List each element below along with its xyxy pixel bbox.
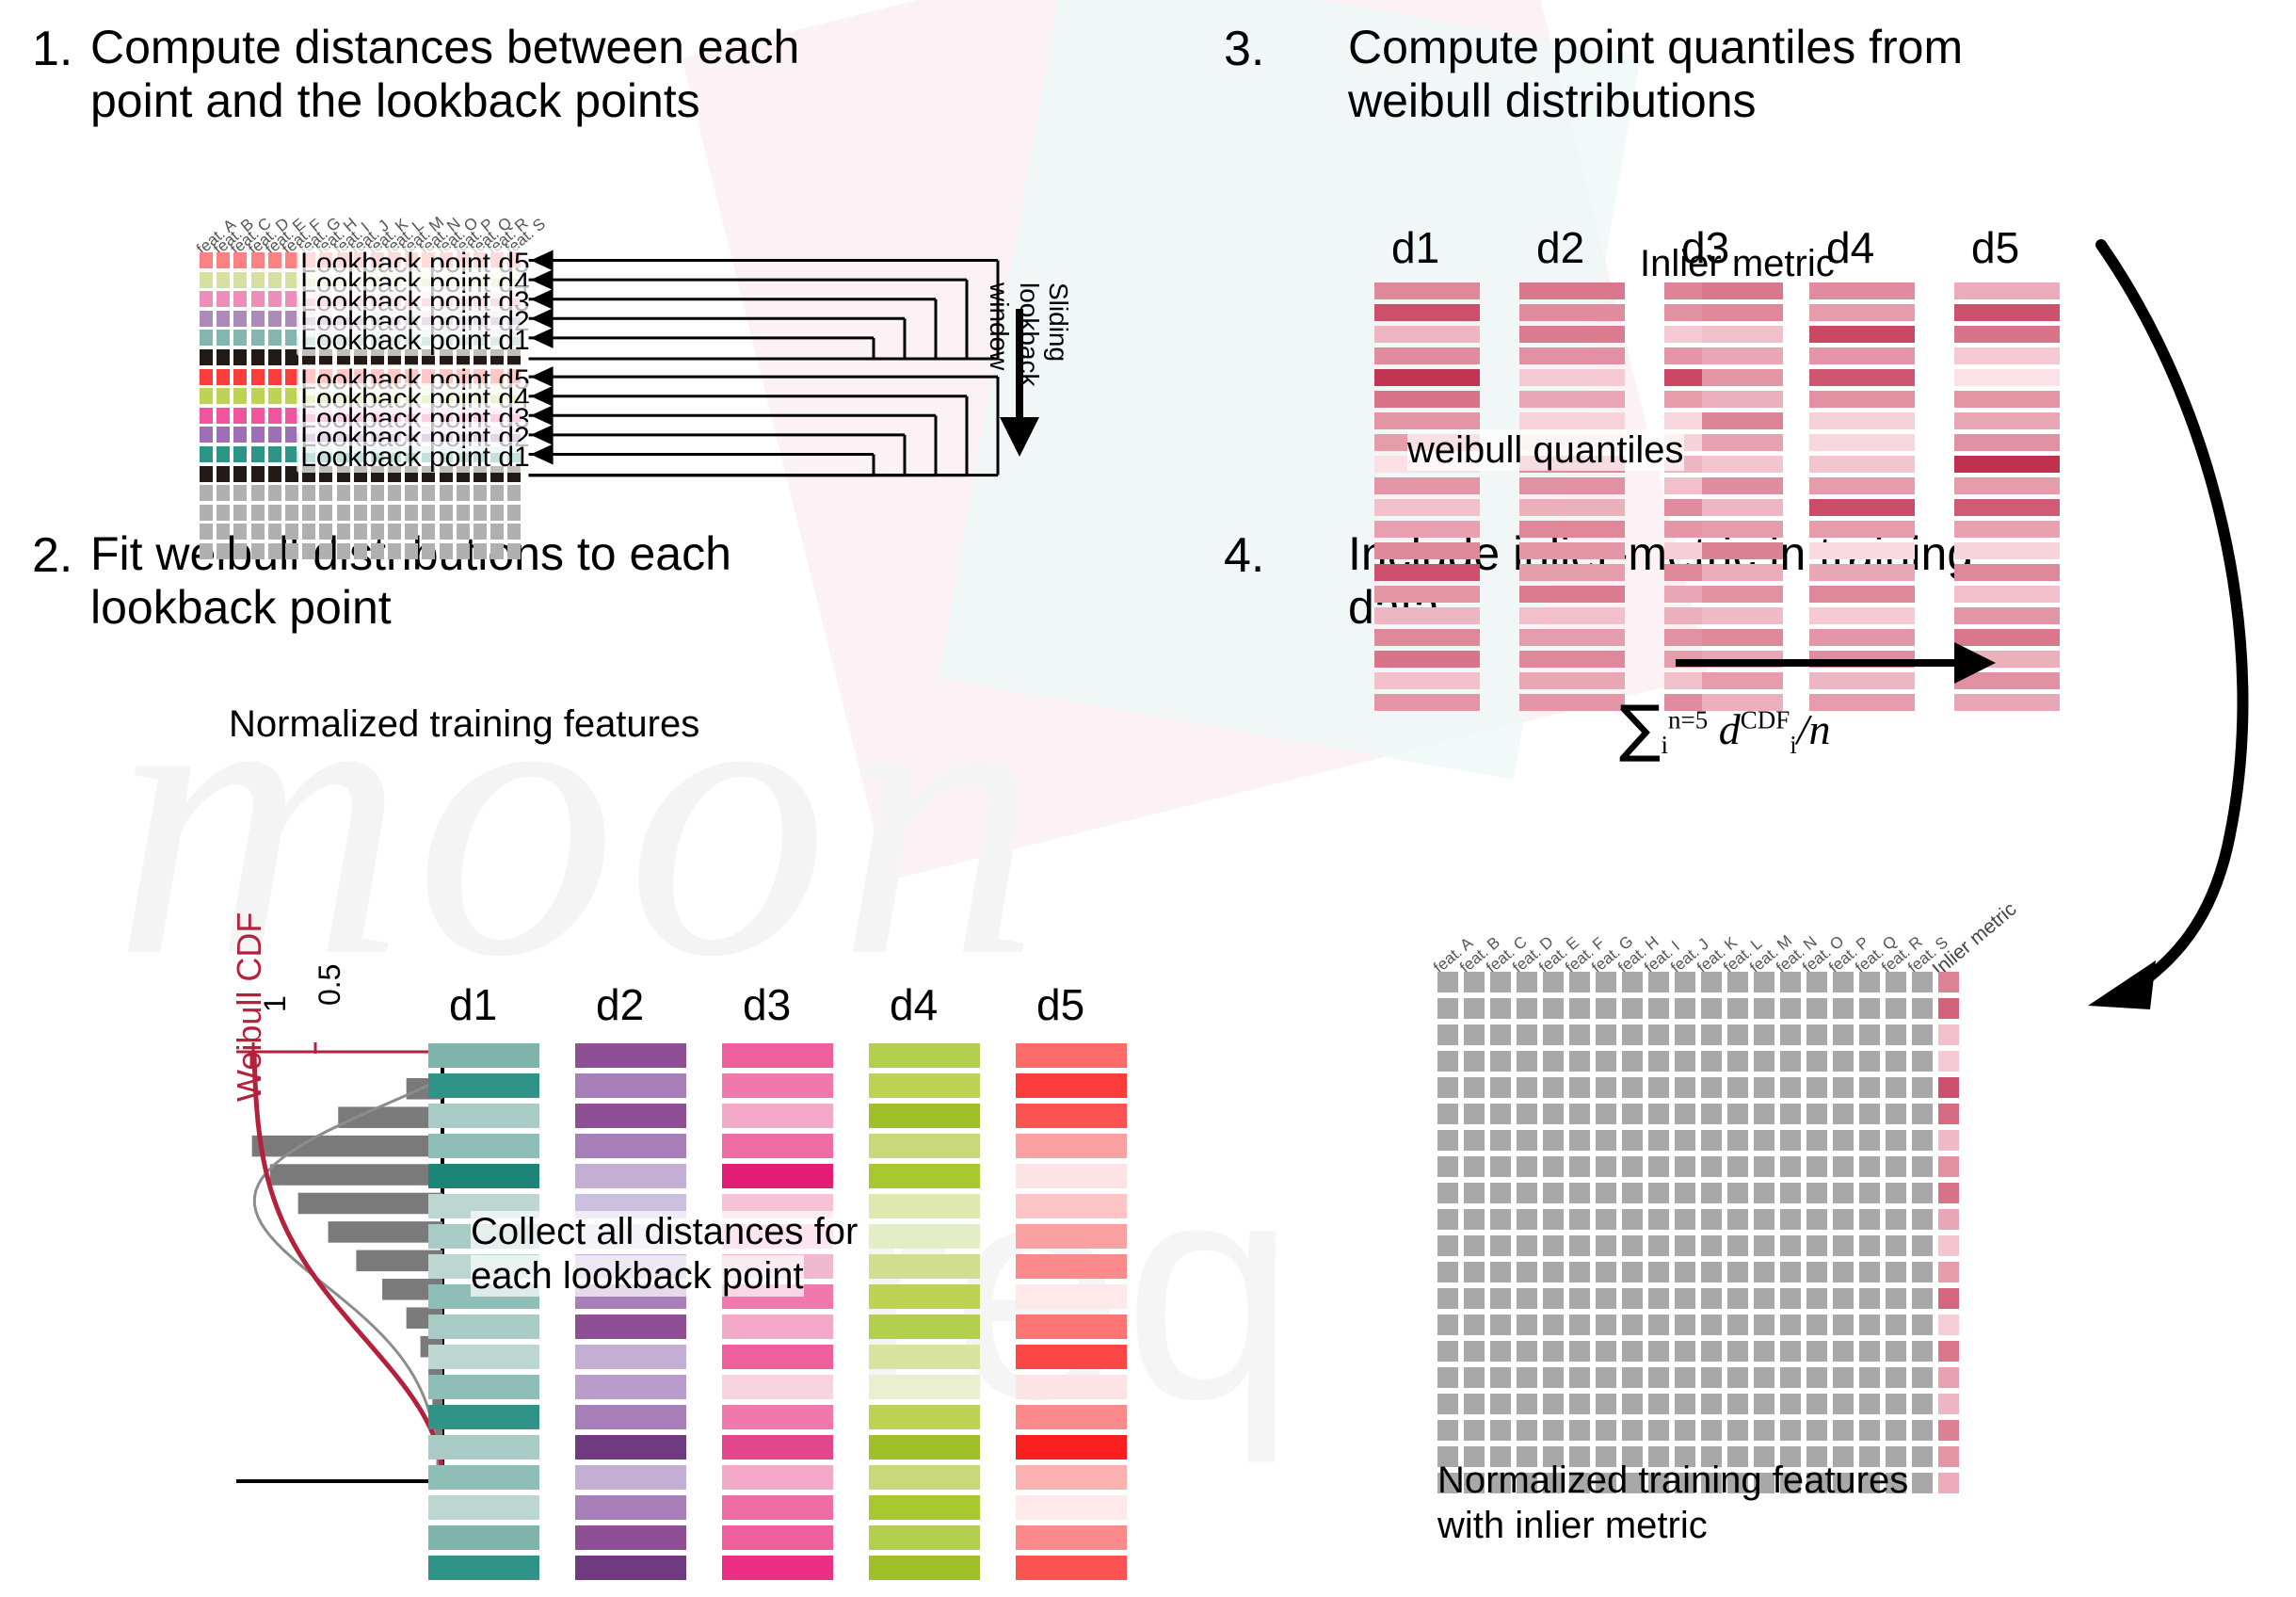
panel4-grid-cell (1569, 1051, 1590, 1072)
panel4-grid-cell (1675, 998, 1695, 1019)
panel3-d-label-d1: d1 (1391, 222, 1439, 273)
panel4-grid-cell (1596, 1156, 1616, 1177)
panel3-quantile-bar (1954, 391, 2060, 408)
panel2-distance-bar (1016, 1495, 1127, 1520)
panel4-grid-cell (1833, 1367, 1854, 1388)
panel4-grid-cell (1833, 998, 1854, 1019)
panel4-grid-cell (1596, 1315, 1616, 1335)
panel4-grid-cell (1806, 1315, 1827, 1335)
panel4-grid-cell (1490, 1315, 1511, 1335)
panel4-grid-row (1437, 1077, 1938, 1098)
panel4-grid-cell (1437, 1315, 1458, 1335)
panel2-distance-bar (575, 1495, 686, 1520)
panel4-grid-cell (1912, 1051, 1933, 1072)
panel4-grid-cell (1701, 998, 1722, 1019)
panel2-distance-bar (1016, 1345, 1127, 1369)
panel4-inlier-cell (1938, 1235, 1959, 1256)
panel3-quantile-bar (1954, 586, 2060, 603)
panel4-grid-cell (1437, 1024, 1458, 1045)
panel4-grid-cell (1886, 1183, 1906, 1203)
panel4-grid-cell (1912, 998, 1933, 1019)
panel1-sliding-window-label: Sliding lookback window (985, 282, 1073, 387)
panel4-grid-cell (1675, 1130, 1695, 1151)
panel2-distance-bar (869, 1556, 980, 1580)
panel4-grid-cell (1675, 1156, 1695, 1177)
panel4-grid-cell (1833, 1024, 1854, 1045)
panel4-inlier-cell (1938, 1024, 1959, 1045)
panel4-grid-row (1437, 972, 1938, 992)
panel3-quantile-bar (1374, 586, 1480, 603)
panel4-grid-cell (1543, 1341, 1564, 1362)
panel4-grid-row (1437, 1209, 1938, 1230)
panel4-grid-cell (1912, 1394, 1933, 1414)
panel3-inlier-bar (1702, 391, 1783, 408)
panel4-grid-cell (1806, 1104, 1827, 1124)
panel3-quantile-bar (1519, 499, 1625, 516)
panel4-grid-cell (1622, 1367, 1643, 1388)
panel4-grid-cell (1437, 1367, 1458, 1388)
panel4-grid-cell (1569, 1024, 1590, 1045)
panel2-distance-bar (428, 1073, 539, 1098)
panel4-grid-cell (1648, 1183, 1669, 1203)
panel4-grid-cell (1437, 1051, 1458, 1072)
panel4-grid-row (1437, 1262, 1938, 1282)
panel4-grid-cell (1596, 1051, 1616, 1072)
panel4-grid-cell (1912, 1156, 1933, 1177)
panel4-grid-cell (1806, 1051, 1827, 1072)
panel3-inlier-bar (1702, 586, 1783, 603)
panel3-quantile-bar (1374, 521, 1480, 538)
panel4-grid-cell (1912, 1420, 1933, 1441)
panel2-distance-bar (1016, 1375, 1127, 1399)
panel4-grid-cell (1675, 1209, 1695, 1230)
panel4-grid-cell (1701, 1288, 1722, 1309)
panel4-grid-cell (1754, 1104, 1774, 1124)
panel4-grid-cell (1780, 1420, 1801, 1441)
panel4-grid-cell (1648, 972, 1669, 992)
panel4-grid-cell (1648, 1209, 1669, 1230)
panel4-grid-cell (1912, 1077, 1933, 1098)
panel4-grid-row (1437, 1341, 1938, 1362)
panel4-grid-cell (1596, 1288, 1616, 1309)
panel4-grid-cell (1543, 1209, 1564, 1230)
panel2-distance-bar (1016, 1104, 1127, 1128)
panel4-grid-cell (1622, 1235, 1643, 1256)
panel4-grid-cell (1754, 1183, 1774, 1203)
panel4-grid-cell (1754, 1367, 1774, 1388)
panel3-quantile-bar (1374, 477, 1480, 494)
panel4-grid-cell (1806, 1288, 1827, 1309)
panel4-grid-cell (1833, 1051, 1854, 1072)
panel2-distance-bar (722, 1525, 833, 1550)
panel3-quantile-bar (1954, 412, 2060, 429)
panel2-d-label-d1: d1 (449, 979, 497, 1030)
panel4-grid-cell (1859, 972, 1880, 992)
panel4-grid-cell (1543, 1288, 1564, 1309)
panel4-grid-cell (1780, 1262, 1801, 1282)
panel2-distance-bar (869, 1315, 980, 1339)
panel3-quantile-bar (1954, 521, 2060, 538)
panel4-grid-cell (1859, 1420, 1880, 1441)
panel2-distance-bar (722, 1315, 833, 1339)
panel4-grid-cell (1490, 1077, 1511, 1098)
panel4-grid-cell (1701, 1051, 1722, 1072)
panel4-grid-cell (1833, 1394, 1854, 1414)
panel4-grid-cell (1727, 1262, 1748, 1282)
panel3-quantile-bar (1809, 499, 1915, 516)
panel4-grid-cell (1543, 1156, 1564, 1177)
panel3-quantile-bar (1519, 282, 1625, 299)
panel2-distance-bar (722, 1556, 833, 1580)
panel4-grid-cell (1886, 1367, 1906, 1388)
panel2-d-label-d2: d2 (596, 979, 644, 1030)
panel4-grid-cell (1701, 1024, 1722, 1045)
panel3-quantile-bar (1954, 607, 2060, 624)
panel2-distance-bar (1016, 1405, 1127, 1429)
panel4-grid-cell (1727, 1104, 1748, 1124)
panel4-grid-cell (1701, 1262, 1722, 1282)
panel4-grid-cell (1622, 1051, 1643, 1072)
panel4-grid-cell (1859, 1315, 1880, 1335)
panel3-inlier-bar (1702, 347, 1783, 364)
panel4-grid-cell (1780, 1183, 1801, 1203)
panel4-grid-cell (1622, 1183, 1643, 1203)
panel4-grid-cell (1648, 1130, 1669, 1151)
panel3-quantile-bar (1519, 391, 1625, 408)
panel2-distance-bar (869, 1284, 980, 1309)
panel4-grid-cell (1833, 1077, 1854, 1098)
panel4-inlier-cell (1938, 1130, 1959, 1151)
panel2-distance-bar (722, 1435, 833, 1460)
panel4-grid-cell (1464, 1209, 1485, 1230)
panel2-distance-bar (1016, 1435, 1127, 1460)
panel4-grid-cell (1622, 1077, 1643, 1098)
panel4-grid-cell (1727, 1156, 1748, 1177)
panel4-grid-cell (1569, 1315, 1590, 1335)
panel4-grid-cell (1806, 1367, 1827, 1388)
panel4-grid-cell (1912, 1183, 1933, 1203)
panel4-grid-cell (1543, 998, 1564, 1019)
panel4-grid-row (1437, 1394, 1938, 1414)
panel4-grid-cell (1569, 1235, 1590, 1256)
panel2-distance-bar (428, 1043, 539, 1068)
panel4-inlier-cell (1938, 1367, 1959, 1388)
panel2-distance-bar (1016, 1134, 1127, 1158)
panel4-grid-cell (1833, 1235, 1854, 1256)
panel4-inlier-cell (1938, 1341, 1959, 1362)
panel4-grid-cell (1912, 1367, 1933, 1388)
panel3-quantile-bar (1954, 304, 2060, 321)
panel2-distance-bar (722, 1345, 833, 1369)
panel4-grid-cell (1754, 972, 1774, 992)
panel4-grid-cell (1701, 1183, 1722, 1203)
panel4-grid-cell (1780, 1394, 1801, 1414)
panel4-grid-cell (1859, 1183, 1880, 1203)
panel4-grid-cell (1806, 1341, 1827, 1362)
panel4-grid-cell (1437, 1420, 1458, 1441)
panel2-distance-bar (575, 1465, 686, 1490)
panel4-grid-cell (1490, 1183, 1511, 1203)
panel4-grid-cell (1596, 1394, 1616, 1414)
panel3-quantile-bar (1809, 456, 1915, 473)
panel4-grid-cell (1754, 1262, 1774, 1282)
panel4-grid-cell (1727, 1394, 1748, 1414)
panel4-grid-cell (1886, 1104, 1906, 1124)
panel2-distance-bar (575, 1345, 686, 1369)
panel4-grid-cell (1701, 1420, 1722, 1441)
panel4-grid-cell (1727, 1341, 1748, 1362)
panel4-grid-cell (1596, 998, 1616, 1019)
panel4-grid-cell (1727, 1183, 1748, 1203)
panel2-distance-bar (428, 1465, 539, 1490)
panel4-grid-cell (1859, 1235, 1880, 1256)
panel3-inlier-bar (1702, 607, 1783, 624)
panel4-grid-cell (1490, 1209, 1511, 1230)
panel4-grid-row (1437, 1024, 1938, 1045)
panel4-grid-cell (1622, 1420, 1643, 1441)
panel4-grid-cell (1806, 1130, 1827, 1151)
panel4-grid-cell (1675, 1288, 1695, 1309)
panel4-grid-cell (1596, 1235, 1616, 1256)
panel4-grid-cell (1622, 1315, 1643, 1335)
panel4-inlier-cell (1938, 1315, 1959, 1335)
panel3-quantile-bar (1954, 369, 2060, 386)
panel3-quantile-bar (1809, 542, 1915, 559)
panel4-grid-cell (1517, 1130, 1537, 1151)
panel3-d-label-d2: d2 (1536, 222, 1584, 273)
panel3-quantile-bar (1519, 694, 1625, 711)
panel4-grid-cell (1780, 1341, 1801, 1362)
panel2-distance-bar (869, 1465, 980, 1490)
panel4-grid-cell (1754, 1235, 1774, 1256)
panel4-grid-cell (1833, 1420, 1854, 1441)
panel3-quantile-bar (1954, 542, 2060, 559)
panel3-quantile-bar (1374, 412, 1480, 429)
panel2-distance-bar (869, 1104, 980, 1128)
panel4-grid-cell (1596, 1077, 1616, 1098)
panel4-inlier-cell (1938, 1156, 1959, 1177)
panel2-distance-bar (722, 1375, 833, 1399)
panel4-grid-cell (1886, 1315, 1906, 1335)
panel3-quantile-bar (1954, 499, 2060, 516)
panel4-grid-cell (1596, 1262, 1616, 1282)
panel3-quantile-bar (1519, 477, 1625, 494)
panel2-distance-bar (575, 1104, 686, 1128)
panel3-quantile-bar (1809, 326, 1915, 343)
panel2-distance-bar (1016, 1073, 1127, 1098)
panel2-distance-bar (428, 1134, 539, 1158)
panel4-grid-cell (1754, 1288, 1774, 1309)
panel4-grid-cell (1727, 998, 1748, 1019)
panel4-grid-cell (1464, 1315, 1485, 1335)
panel4-grid-cell (1543, 1235, 1564, 1256)
panel4-grid-cell (1806, 972, 1827, 992)
panel3-quantile-bar (1954, 326, 2060, 343)
panel4-grid-cell (1517, 1394, 1537, 1414)
panel4-grid-cell (1806, 1394, 1827, 1414)
panel4-grid-cell (1648, 1394, 1669, 1414)
panel4-grid-cell (1886, 1288, 1906, 1309)
panel3-quantile-bar (1519, 564, 1625, 581)
panel4-grid-cell (1833, 1288, 1854, 1309)
panel4-grid-cell (1701, 1077, 1722, 1098)
panel4-inlier-cell (1938, 1394, 1959, 1414)
panel4-grid-cell (1727, 1130, 1748, 1151)
panel4-grid-cell (1490, 1051, 1511, 1072)
panel2-distance-bar (428, 1495, 539, 1520)
panel4-grid-cell (1569, 972, 1590, 992)
panel4-grid-cell (1806, 1183, 1827, 1203)
panel4-grid-cell (1701, 1104, 1722, 1124)
panel4-grid-cell (1437, 1130, 1458, 1151)
panel3-quantile-bar (1519, 651, 1625, 668)
panel3-quantile-bar (1809, 564, 1915, 581)
panel4-grid-cell (1675, 1315, 1695, 1335)
panel4-grid-cell (1912, 1024, 1933, 1045)
panel4-grid-cell (1727, 1024, 1748, 1045)
panel4-grid-cell (1596, 1104, 1616, 1124)
panel4-grid-cell (1675, 1077, 1695, 1098)
panel4-grid-cell (1569, 1367, 1590, 1388)
panel2-distance-bar (869, 1073, 980, 1098)
panel3-quantile-bar (1374, 694, 1480, 711)
panel3-inlier-bar (1702, 542, 1783, 559)
panel4-grid-cell (1754, 998, 1774, 1019)
panel3-quantile-bar (1954, 434, 2060, 451)
panel2-distance-bar (1016, 1315, 1127, 1339)
panel4-grid-cell (1464, 1262, 1485, 1282)
panel2-distance-bar (575, 1525, 686, 1550)
panel3-quantile-bar (1954, 456, 2060, 473)
panel4-grid-cell (1886, 1130, 1906, 1151)
panel4-grid-cell (1569, 1130, 1590, 1151)
panel2-distance-bar (428, 1164, 539, 1188)
panel4-grid-cell (1622, 1130, 1643, 1151)
panel4-grid-cell (1675, 1104, 1695, 1124)
panel4-grid-cell (1569, 1420, 1590, 1441)
panel4-grid-cell (1886, 1156, 1906, 1177)
panel4-grid-cell (1490, 1104, 1511, 1124)
panel4-grid-cell (1648, 1051, 1669, 1072)
panel4-grid-row (1437, 1156, 1938, 1177)
panel3-quantile-bar (1954, 564, 2060, 581)
panel4-grid-cell (1517, 1420, 1537, 1441)
panel3-quantile-bar (1374, 391, 1480, 408)
panel4-grid-cell (1648, 1235, 1669, 1256)
panel4-grid-cell (1780, 1024, 1801, 1045)
panel3-quantile-bar (1374, 564, 1480, 581)
panel4-grid-cell (1569, 1394, 1590, 1414)
panel4-grid-cell (1806, 998, 1827, 1019)
panel2-distance-bar (428, 1345, 539, 1369)
panel2-cdf-tick-1: 1 (258, 995, 293, 1012)
panel4-grid-cell (1437, 1077, 1458, 1098)
panel4-grid-cell (1464, 1130, 1485, 1151)
panel3-quantile-bar (1809, 412, 1915, 429)
panel4-grid-cell (1543, 1367, 1564, 1388)
panel4-grid-cell (1437, 972, 1458, 992)
panel4-grid-cell (1622, 1262, 1643, 1282)
panel3-inlier-bar (1702, 304, 1783, 321)
panel4-grid-cell (1464, 1104, 1485, 1124)
panel4-grid-cell (1648, 1024, 1669, 1045)
panel4-grid-cell (1437, 1394, 1458, 1414)
panel4-grid-cell (1754, 1156, 1774, 1177)
panel4-grid-cell (1912, 1473, 1933, 1493)
panel4-grid-cell (1569, 1077, 1590, 1098)
panel4-grid-cell (1833, 1315, 1854, 1335)
panel4-grid-cell (1886, 1341, 1906, 1362)
panel4-grid-cell (1622, 1104, 1643, 1124)
panel3-formula: ∑in=5 dCDFi/n (1619, 692, 1831, 765)
panel2-d-label-d3: d3 (743, 979, 791, 1030)
panel4-grid-cell (1806, 1024, 1827, 1045)
panel4-grid-cell (1648, 1104, 1669, 1124)
panel3-quantile-bar (1519, 326, 1625, 343)
panel4-grid-cell (1517, 1341, 1537, 1362)
panel4-grid-cell (1701, 1156, 1722, 1177)
panel4-grid-cell (1437, 1235, 1458, 1256)
panel4-grid-cell (1727, 1420, 1748, 1441)
panel2-distance-bar (428, 1525, 539, 1550)
panel2-distance-bar (869, 1134, 980, 1158)
panel4-grid-cell (1675, 1394, 1695, 1414)
panel3-quantile-bar (1374, 304, 1480, 321)
panel4-grid-row (1437, 1104, 1938, 1124)
panel3-quantile-bar (1809, 586, 1915, 603)
panel2-distance-bar (575, 1375, 686, 1399)
panel2-distance-bar (869, 1043, 980, 1068)
panel3-quantile-bar (1519, 347, 1625, 364)
panel4-grid-cell (1754, 1024, 1774, 1045)
panel4-grid-cell (1859, 1262, 1880, 1282)
panel3-d-label-d5: d5 (1971, 222, 2019, 273)
panel4-grid-cell (1543, 1394, 1564, 1414)
panel4-grid-cell (1859, 1394, 1880, 1414)
panel3-quantile-bar (1519, 586, 1625, 603)
panel4-grid-cell (1622, 1394, 1643, 1414)
panel3-quantile-bar (1954, 477, 2060, 494)
panel2-distance-bar (575, 1073, 686, 1098)
panel3-quantile-bar (1519, 521, 1625, 538)
panel2-distance-bar (1016, 1284, 1127, 1309)
panel4-grid-cell (1833, 1209, 1854, 1230)
panel4-grid-cell (1727, 1051, 1748, 1072)
panel3-quantile-bar (1374, 672, 1480, 689)
panel4-grid-cell (1569, 1104, 1590, 1124)
panel4-grid-cell (1464, 1394, 1485, 1414)
panel2-distance-bar (1016, 1254, 1127, 1279)
panel4-grid-cell (1727, 1077, 1748, 1098)
panel4-grid-cell (1886, 1420, 1906, 1441)
panel4-grid-cell (1569, 1341, 1590, 1362)
panel4-grid-cell (1648, 998, 1669, 1019)
panel2-distance-bar (869, 1525, 980, 1550)
panel4-grid-cell (1780, 1156, 1801, 1177)
panel4-grid-cell (1754, 1209, 1774, 1230)
panel4-grid-cell (1648, 1341, 1669, 1362)
panel4-grid-cell (1675, 972, 1695, 992)
panel4-grid-cell (1859, 1051, 1880, 1072)
panel4-grid-cell (1622, 1024, 1643, 1045)
panel4-grid-cell (1648, 1420, 1669, 1441)
panel3-quantile-bar (1374, 282, 1480, 299)
panel4-grid-cell (1622, 1341, 1643, 1362)
panel4-grid-cell (1569, 1156, 1590, 1177)
panel4-grid-cell (1569, 1183, 1590, 1203)
panel2-cdf-tick-0point5: 0.5 (313, 964, 347, 1006)
panel4-grid-cell (1490, 1341, 1511, 1362)
